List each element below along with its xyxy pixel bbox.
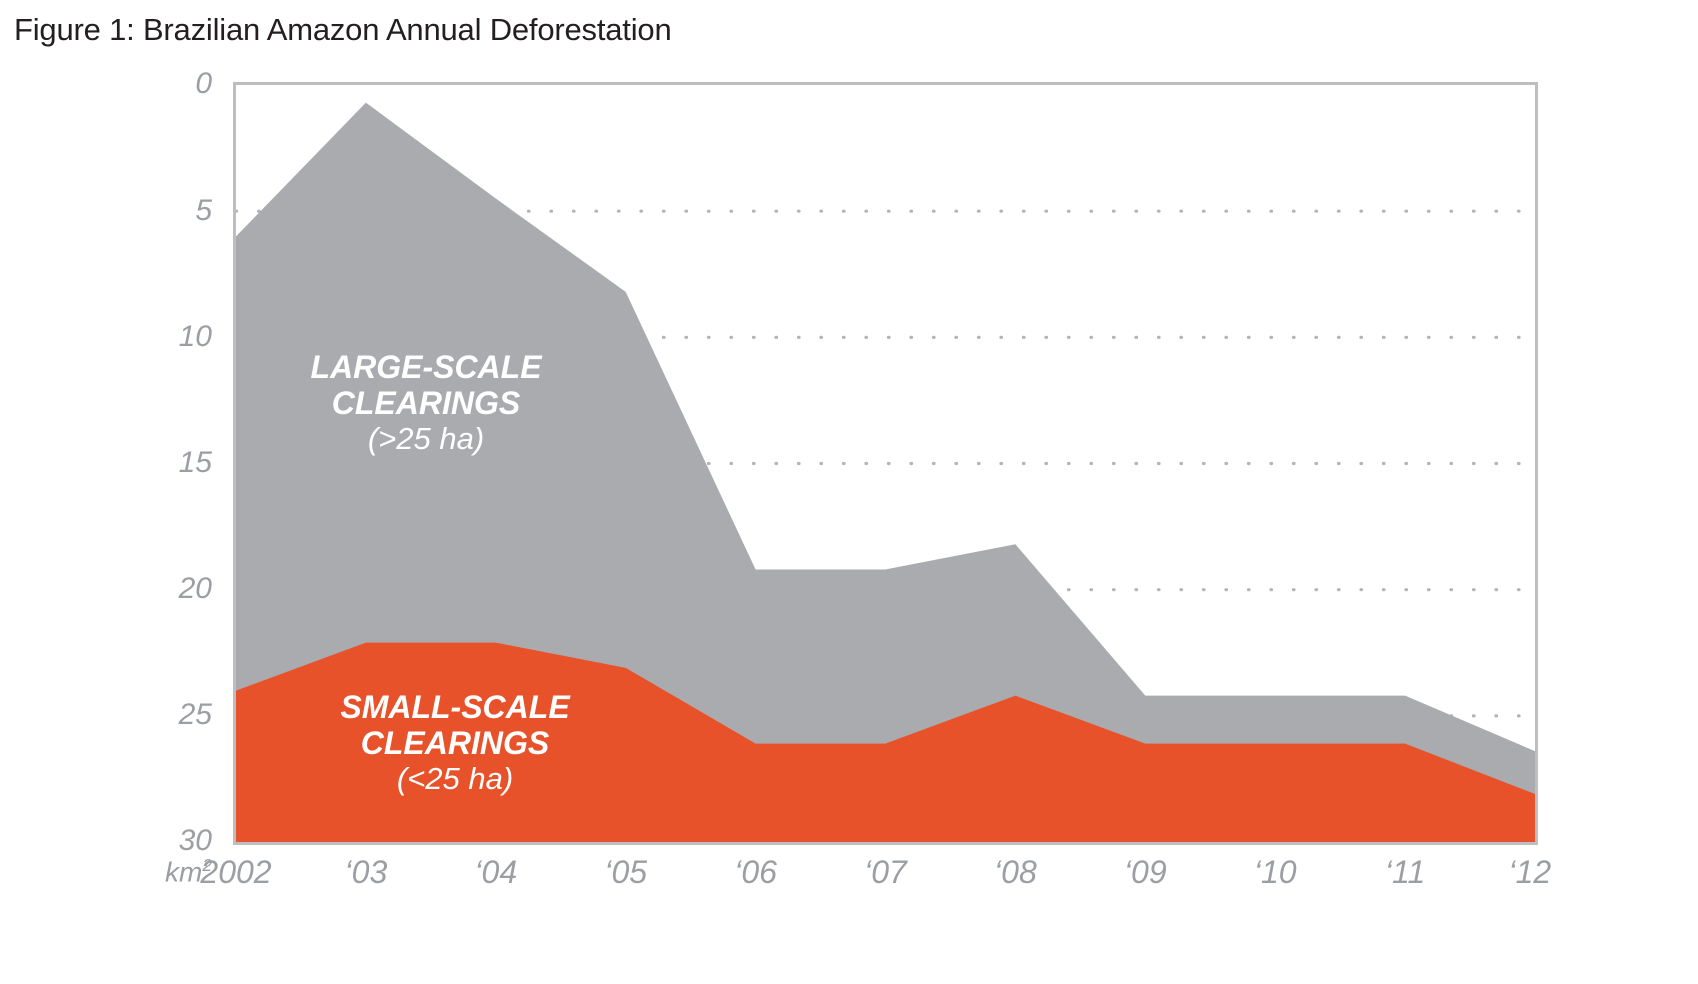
y-axis-tick-25: 25 [179, 700, 212, 730]
x-axis-tick-2007: ‘07 [864, 856, 907, 888]
plot-area [233, 82, 1538, 845]
x-axis-tick-2003: ‘03 [345, 856, 388, 888]
page-title: Figure 1: Brazilian Amazon Annual Defore… [14, 12, 671, 48]
plot-inner [236, 85, 1535, 842]
x-axis-tick-2005: ‘05 [604, 856, 647, 888]
y-axis-tick-15: 15 [179, 448, 212, 478]
x-axis-tick-2009: ‘09 [1124, 856, 1167, 888]
y-axis: 30 km2 25 20 15 10 5 0 [0, 82, 222, 845]
x-axis-tick-2012: ‘12 [1509, 856, 1552, 888]
figure-root: Figure 1: Brazilian Amazon Annual Defore… [0, 0, 1698, 984]
area-chart [236, 85, 1535, 842]
y-axis-tick-5: 5 [195, 196, 212, 226]
y-axis-tick-30-value: 30 [179, 824, 212, 857]
x-axis: 2002‘03‘04‘05‘06‘07‘08‘09‘10‘11‘12 [0, 856, 1698, 916]
x-axis-tick-2008: ‘08 [994, 856, 1037, 888]
x-axis-tick-2002: 2002 [200, 856, 271, 888]
x-axis-tick-2011: ‘11 [1385, 856, 1425, 888]
y-axis-tick-20: 20 [179, 574, 212, 604]
x-axis-tick-2006: ‘06 [734, 856, 777, 888]
y-axis-tick-0: 0 [195, 69, 212, 99]
y-axis-tick-10: 10 [179, 322, 212, 352]
x-axis-tick-2010: ‘10 [1254, 856, 1297, 888]
x-axis-tick-2004: ‘04 [474, 856, 517, 888]
